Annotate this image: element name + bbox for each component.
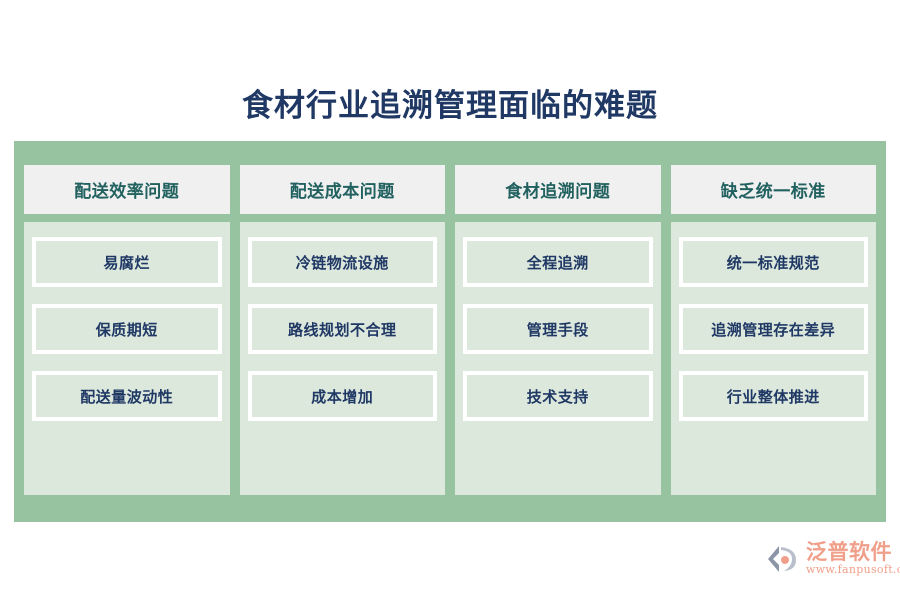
- item-box[interactable]: 路线规划不合理: [248, 304, 438, 354]
- item-box[interactable]: 技术支持: [463, 371, 653, 421]
- column-body-2: 冷链物流设施 路线规划不合理 成本增加: [240, 222, 446, 495]
- page-title: 食材行业追溯管理面临的难题: [0, 86, 900, 126]
- column-header-3[interactable]: 食材追溯问题: [455, 165, 661, 214]
- brand-text: 泛普软件 www.fanpusoft.com: [806, 541, 900, 576]
- problem-board: 泛普软件 FANPU SOFTWARE 配送效率问题 易腐烂 保质期短 配送量波…: [14, 141, 886, 522]
- problem-column-delivery-cost: 配送成本问题 冷链物流设施 路线规划不合理 成本增加: [240, 165, 446, 495]
- problem-column-lack-of-standards: 缺乏统一标准 统一标准规范 追溯管理存在差异 行业整体推进: [671, 165, 877, 495]
- column-body-4: 统一标准规范 追溯管理存在差异 行业整体推进: [671, 222, 877, 495]
- item-box[interactable]: 全程追溯: [463, 237, 653, 287]
- item-box[interactable]: 冷链物流设施: [248, 237, 438, 287]
- brand-url: www.fanpusoft.com: [806, 563, 900, 576]
- item-box[interactable]: 易腐烂: [32, 237, 222, 287]
- brand-name: 泛普软件: [806, 541, 900, 563]
- problem-column-delivery-efficiency: 配送效率问题 易腐烂 保质期短 配送量波动性: [24, 165, 230, 495]
- item-box[interactable]: 管理手段: [463, 304, 653, 354]
- slide-canvas: 食材行业追溯管理面临的难题 泛普软件 FANPU SOFTWARE 配送效率问题…: [0, 0, 900, 600]
- problem-columns: 配送效率问题 易腐烂 保质期短 配送量波动性 配送成本问题 冷链物流设施 路线规…: [24, 165, 876, 495]
- column-header-4[interactable]: 缺乏统一标准: [671, 165, 877, 214]
- problem-column-food-traceability: 食材追溯问题 全程追溯 管理手段 技术支持: [455, 165, 661, 495]
- brand-logo[interactable]: 泛普软件 www.fanpusoft.com: [766, 541, 900, 576]
- item-box[interactable]: 配送量波动性: [32, 371, 222, 421]
- fanpu-logo-icon: [766, 544, 800, 574]
- column-header-2[interactable]: 配送成本问题: [240, 165, 446, 214]
- item-box[interactable]: 保质期短: [32, 304, 222, 354]
- item-box[interactable]: 统一标准规范: [679, 237, 869, 287]
- column-body-3: 全程追溯 管理手段 技术支持: [455, 222, 661, 495]
- item-box[interactable]: 成本增加: [248, 371, 438, 421]
- column-body-1: 易腐烂 保质期短 配送量波动性: [24, 222, 230, 495]
- column-header-1[interactable]: 配送效率问题: [24, 165, 230, 214]
- item-box[interactable]: 追溯管理存在差异: [679, 304, 869, 354]
- item-box[interactable]: 行业整体推进: [679, 371, 869, 421]
